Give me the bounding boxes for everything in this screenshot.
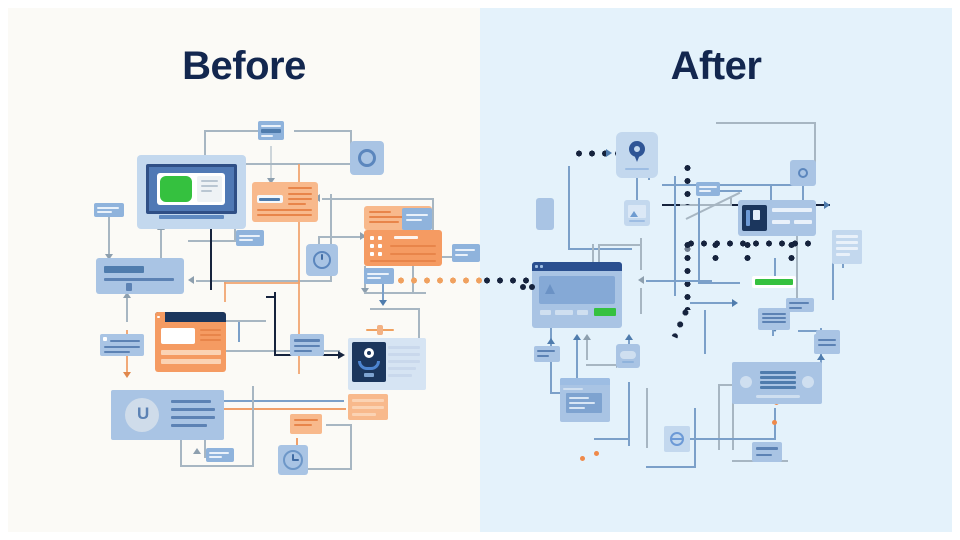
dotted-connector (788, 240, 795, 264)
connector (704, 310, 706, 354)
right-edge-doc-node[interactable] (832, 230, 862, 264)
connector (180, 465, 254, 467)
list-panel-node[interactable] (758, 308, 790, 330)
comparison-diagram: Before (0, 0, 960, 540)
connector (568, 248, 632, 250)
globe-tile-node[interactable] (664, 426, 690, 452)
arrow-icon (188, 276, 194, 284)
before-panel: Before (8, 8, 480, 532)
connector (640, 288, 642, 314)
connector (640, 238, 642, 270)
connector (586, 338, 588, 360)
connector (224, 408, 346, 410)
dotted-connector (684, 163, 691, 205)
location-pin-tile-node[interactable] (616, 132, 658, 178)
connector (126, 296, 128, 322)
monitor-stand (159, 215, 224, 219)
bridge-dotted-left (396, 277, 482, 284)
connector (718, 384, 720, 450)
progress-bar-node[interactable] (752, 276, 796, 288)
connector (188, 240, 236, 242)
arrow-icon (547, 338, 555, 344)
connector (204, 130, 266, 132)
arrow-icon (379, 300, 387, 306)
connector (266, 296, 276, 298)
settings-tile-node[interactable] (790, 160, 816, 186)
player-left-control[interactable] (740, 376, 752, 388)
arrow-icon (606, 149, 612, 157)
connector (224, 282, 226, 302)
connector (326, 424, 352, 426)
arrow-icon (638, 276, 644, 284)
input-field[interactable] (257, 195, 283, 203)
connector (252, 386, 254, 466)
bottom-chip-node[interactable] (752, 442, 782, 462)
after-diagram-canvas (480, 8, 952, 532)
gear-icon (798, 168, 808, 178)
small-chip-node[interactable] (696, 182, 720, 196)
cloud-icon (620, 351, 636, 359)
connector (294, 130, 352, 132)
browser-preview-node[interactable] (560, 378, 610, 422)
connector (204, 130, 206, 158)
dotted-connector (686, 240, 816, 247)
main-dashboard-window-node[interactable] (532, 262, 622, 328)
plane-marker-node (366, 325, 394, 335)
connector (568, 166, 570, 250)
mini-chip-node[interactable] (236, 230, 264, 246)
edge-chip-node[interactable] (452, 244, 480, 262)
monitor-screen (146, 164, 237, 214)
note-card-node[interactable] (100, 334, 144, 356)
connector (594, 438, 630, 440)
mini-card-node[interactable] (290, 334, 324, 356)
media-card-node[interactable] (738, 200, 816, 236)
dotted-connector (671, 307, 690, 339)
dotted-connector (712, 240, 719, 264)
arrow-icon (732, 299, 738, 307)
connector (224, 282, 300, 284)
connector (730, 198, 732, 206)
status-dot (594, 451, 599, 456)
connector (432, 198, 434, 232)
connector (274, 292, 276, 356)
window-titlebar (532, 262, 622, 271)
progress-fill (755, 279, 793, 285)
arrow-icon (817, 354, 825, 360)
connector (646, 466, 696, 468)
connector (364, 292, 426, 294)
connector (646, 388, 648, 448)
primary-action-button[interactable] (594, 308, 616, 316)
connector (686, 438, 776, 440)
arrow-icon (573, 334, 581, 340)
connector (350, 426, 352, 470)
edge-tile-node[interactable] (536, 198, 554, 230)
preview-titlebar (560, 378, 610, 385)
arrow-icon (625, 334, 633, 340)
preview-canvas (566, 393, 602, 413)
connector (592, 244, 594, 264)
small-chip-node[interactable] (534, 346, 560, 362)
arrow-icon (193, 448, 201, 454)
connector (370, 308, 420, 310)
arrow-icon (123, 372, 131, 378)
connector (550, 328, 552, 338)
arrow-icon (824, 201, 830, 209)
connector (238, 320, 240, 342)
bridge-entry-marker (520, 284, 536, 290)
connector (716, 122, 816, 124)
arrow-icon (583, 334, 591, 340)
dotted-connector (684, 240, 691, 310)
robot-tile-node[interactable] (352, 342, 386, 382)
monitor-display-node[interactable] (137, 155, 246, 229)
status-dot (772, 420, 777, 425)
orange-chip-node[interactable] (290, 414, 322, 434)
window-canvas (539, 276, 615, 304)
status-dot (580, 456, 585, 461)
browser-thumb (161, 328, 195, 344)
left-chip-node[interactable] (94, 203, 124, 217)
mini-chip-node[interactable] (364, 268, 394, 284)
connector (628, 382, 630, 446)
image-thumb-tile-node[interactable] (624, 200, 650, 226)
connector (646, 280, 712, 282)
dial-control-node[interactable] (306, 244, 338, 276)
blue-bar-node[interactable] (402, 208, 432, 230)
connector (322, 198, 434, 200)
connector (690, 302, 736, 304)
arrow-icon (338, 351, 345, 359)
connector (576, 338, 578, 382)
browser-titlebar (155, 312, 226, 322)
after-panel: After (480, 8, 952, 532)
cloud-tile-node[interactable] (616, 344, 640, 368)
orange-list-card-node[interactable] (364, 230, 442, 266)
chart-icon (545, 284, 555, 294)
top-right-chip-node[interactable] (786, 298, 814, 312)
small-header-chip-node[interactable] (258, 121, 284, 140)
orange-form-card-node[interactable] (252, 182, 318, 222)
clock-tile-node[interactable] (278, 445, 308, 475)
connector (308, 468, 352, 470)
connector (600, 244, 640, 246)
wide-player-card-node[interactable] (732, 362, 822, 404)
player-right-control[interactable] (802, 376, 814, 388)
avatar-profile-card-node[interactable]: U (111, 390, 224, 440)
connector (224, 400, 344, 402)
connector (318, 236, 364, 238)
connector (674, 176, 676, 296)
bridge-dotted-right (482, 277, 534, 284)
media-thumbnail (742, 205, 767, 231)
dotted-connector (744, 240, 751, 264)
before-diagram-canvas: U (8, 8, 480, 532)
connector (698, 198, 700, 284)
browser-window-node[interactable] (155, 312, 226, 372)
orange-note-node[interactable] (348, 394, 388, 420)
blue-summary-card-node[interactable] (96, 258, 184, 294)
mini-chip-node[interactable] (206, 448, 234, 462)
mid-right-tile-node[interactable] (814, 334, 840, 354)
connector (698, 282, 740, 284)
screen-highlight (160, 176, 192, 202)
gear-badge-node[interactable] (350, 141, 384, 175)
